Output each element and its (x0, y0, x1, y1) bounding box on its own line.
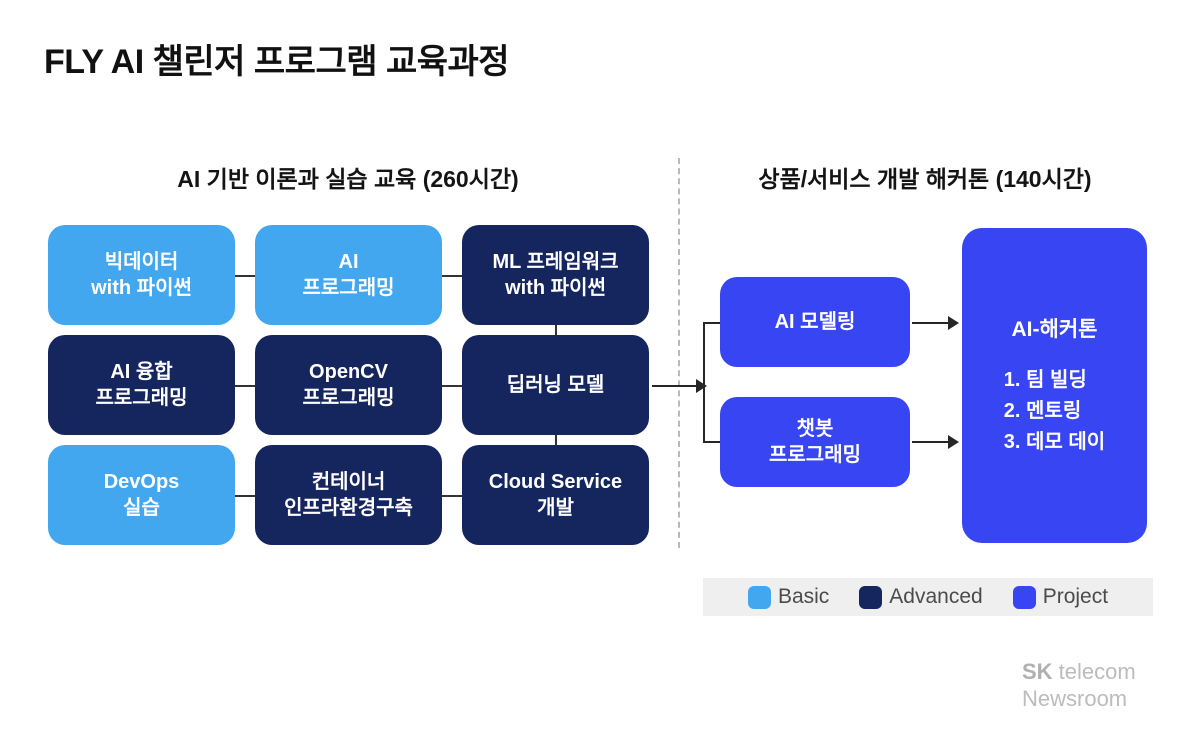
connector-c2-r1-r2 (555, 435, 557, 445)
course-label-line2: with 파이썬 (505, 275, 606, 301)
course-box[interactable]: ML 프레임워크 with 파이썬 (462, 225, 649, 325)
course-label-line1: DevOps (104, 469, 180, 495)
course-label-line1: 빅데이터 (105, 249, 179, 275)
legend-item-advanced: Advanced (859, 585, 982, 609)
connector-r0-c1-c2 (442, 275, 462, 277)
arrow-modeling-to-hackathon-line (912, 322, 950, 324)
course-label-line2: with 파이썬 (91, 275, 192, 301)
course-label-line2: 프로그래밍 (96, 385, 188, 411)
legend-swatch-basic (748, 586, 771, 609)
connector-r1-c1-c2 (442, 385, 462, 387)
logo-newsroom-text: Newsroom (1022, 686, 1182, 713)
hackathon-title: AI-해커톤 (1012, 313, 1098, 343)
connector-r2-c1-c2 (442, 495, 462, 497)
hackathon-step-list: 1. 팀 빌딩 2. 멘토링 3. 데모 데이 (1004, 365, 1105, 458)
course-label-line2: 프로그래밍 (303, 385, 395, 411)
course-box[interactable]: 컨테이너 인프라환경구축 (255, 445, 442, 545)
hackathon-result-box[interactable]: AI-해커톤 1. 팀 빌딩 2. 멘토링 3. 데모 데이 (962, 228, 1147, 543)
arrow-modeling-to-hackathon-head (948, 316, 959, 330)
connector-r1-c0-c1 (235, 385, 255, 387)
legend-label-basic: Basic (778, 585, 829, 609)
page-title: FLY AI 챌린저 프로그램 교육과정 (44, 34, 509, 83)
course-box[interactable]: AI 프로그래밍 (255, 225, 442, 325)
legend-swatch-advanced (859, 586, 882, 609)
course-label-line1: 컨테이너 (312, 469, 386, 495)
project-label-line1: 챗봇 (797, 416, 834, 442)
legend-item-project: Project (1013, 585, 1108, 609)
connector-r2-c0-c1 (235, 495, 255, 497)
section-header-theory: AI 기반 이론과 실습 교육 (260시간) (48, 160, 648, 194)
course-label-line2: 개발 (537, 495, 574, 521)
section-header-hackathon: 상품/서비스 개발 해커톤 (140시간) (690, 160, 1160, 194)
legend-label-project: Project (1043, 585, 1108, 609)
legend: Basic Advanced Project (703, 578, 1153, 616)
course-box[interactable]: 빅데이터 with 파이썬 (48, 225, 235, 325)
course-box[interactable]: OpenCV 프로그래밍 (255, 335, 442, 435)
branch-spine (703, 322, 705, 442)
arrow-to-hackathon-line (652, 385, 698, 387)
course-box[interactable]: 딥러닝 모델 (462, 335, 649, 435)
connector-r0-c0-c1 (235, 275, 255, 277)
connector-c2-r0-r1 (555, 325, 557, 335)
course-label-line1: ML 프레임워크 (492, 249, 618, 275)
project-label-line2: 프로그래밍 (769, 442, 861, 468)
course-label-line2: 프로그래밍 (303, 275, 395, 301)
course-box[interactable]: DevOps 실습 (48, 445, 235, 545)
curriculum-grid: 빅데이터 with 파이썬 AI 프로그래밍 ML 프레임워크 with 파이썬… (48, 225, 652, 545)
sk-telecom-newsroom-logo: SK telecom Newsroom (1022, 659, 1182, 713)
course-label-line1: AI (339, 249, 359, 275)
logo-line-telecom: SK telecom (1022, 659, 1182, 686)
course-label-line2: 인프라환경구축 (284, 495, 413, 521)
logo-telecom-text: telecom (1053, 659, 1136, 684)
legend-swatch-project (1013, 586, 1036, 609)
arrow-chatbot-to-hackathon-line (912, 441, 950, 443)
hackathon-step: 2. 멘토링 (1004, 396, 1105, 427)
hackathon-step: 1. 팀 빌딩 (1004, 365, 1105, 396)
course-label-line1: OpenCV (309, 359, 388, 385)
course-label-line2: 실습 (123, 495, 160, 521)
logo-sk-text: SK (1022, 659, 1053, 684)
section-divider (678, 158, 680, 548)
project-box-chatbot[interactable]: 챗봇 프로그래밍 (720, 397, 910, 487)
course-box[interactable]: Cloud Service 개발 (462, 445, 649, 545)
course-label-line1: AI 융합 (110, 359, 172, 385)
legend-label-advanced: Advanced (889, 585, 982, 609)
course-label-line1: Cloud Service (489, 469, 622, 495)
arrow-chatbot-to-hackathon-head (948, 435, 959, 449)
legend-item-basic: Basic (748, 585, 829, 609)
hackathon-step: 3. 데모 데이 (1004, 427, 1105, 458)
arrow-to-hackathon-head (696, 379, 707, 393)
course-label-line1: 딥러닝 모델 (507, 372, 605, 398)
course-box[interactable]: AI 융합 프로그래밍 (48, 335, 235, 435)
project-label-line1: AI 모델링 (775, 309, 856, 335)
project-box-ai-modeling[interactable]: AI 모델링 (720, 277, 910, 367)
